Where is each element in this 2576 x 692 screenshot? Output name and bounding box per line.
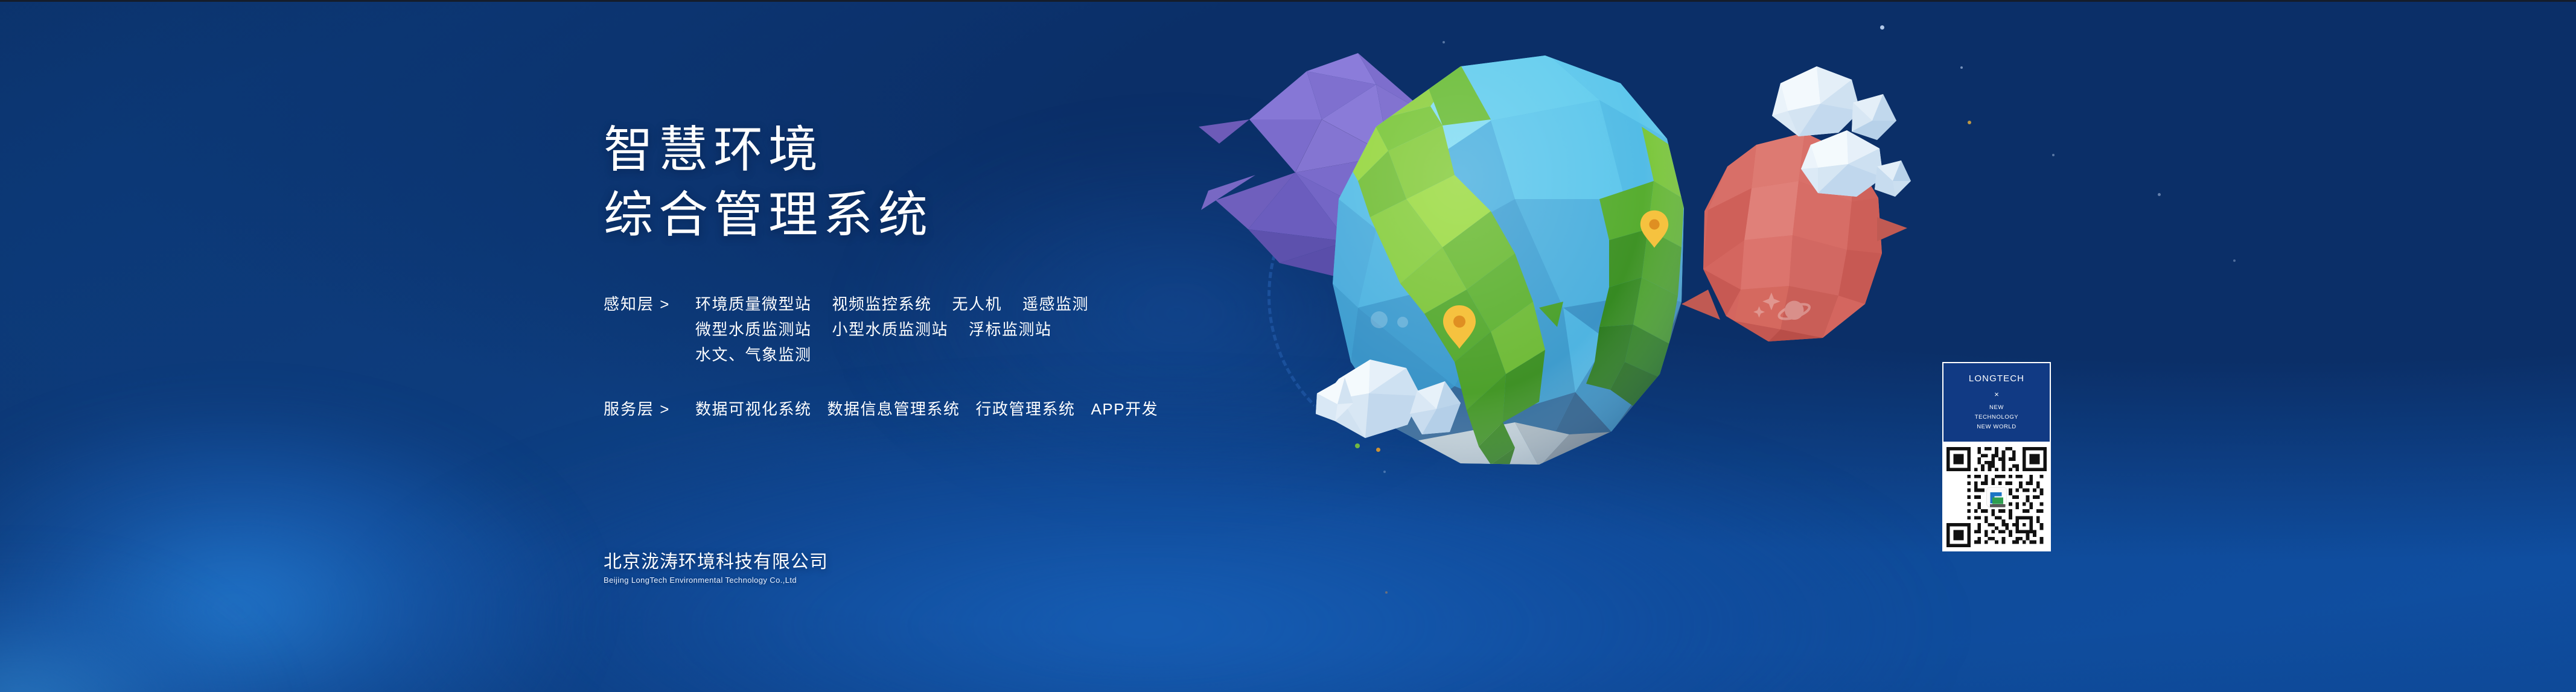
star-icon (1443, 41, 1445, 43)
layer-item[interactable]: APP开发 (1091, 396, 1159, 422)
layer-item[interactable]: 微型水质监测站 (695, 317, 812, 342)
title-line-1: 智慧环境 (604, 118, 1569, 183)
company-name-en: Beijing LongTech Environmental Technolog… (604, 575, 828, 586)
layer-item[interactable]: 小型水质监测站 (832, 317, 949, 342)
page-title: 智慧环境 综合管理系统 (604, 118, 1569, 248)
company-signature: 北京泷涛环境科技有限公司 Beijing LongTech Environmen… (604, 551, 828, 586)
layer-item[interactable]: 数据可视化系统 (695, 396, 812, 422)
layer-item[interactable]: 数据信息管理系统 (827, 396, 960, 422)
star-icon (2052, 154, 2055, 156)
layer-line: 数据可视化系统 数据信息管理系统 行政管理系统 APP开发 (695, 396, 1174, 422)
qr-card-header: LONGTECH × NEW TECHNOLOGY NEW WORLD (1942, 362, 2051, 443)
layer-items-service: 数据可视化系统 数据信息管理系统 行政管理系统 APP开发 (695, 396, 1174, 422)
company-name-cn: 北京泷涛环境科技有限公司 (604, 551, 828, 574)
layer-item[interactable]: 视频监控系统 (832, 291, 932, 317)
star-icon (2233, 259, 2236, 262)
layer-item[interactable]: 浮标监测站 (969, 317, 1052, 342)
layer-line: 水文、气象监测 (695, 342, 1089, 367)
layer-item[interactable]: 水文、气象监测 (695, 342, 812, 367)
top-edge-line (0, 0, 2576, 2)
wechat-qr-code-icon[interactable] (1946, 447, 2047, 547)
qr-code-frame (1942, 443, 2051, 551)
star-icon (1880, 25, 1884, 30)
layer-label-perception[interactable]: 感知层 > (604, 291, 695, 317)
layer-list: 感知层 > 环境质量微型站 视频监控系统 无人机 遥感监测 微型水质监测站 小型… (604, 291, 1569, 422)
hero-copy: 智慧环境 综合管理系统 感知层 > 环境质量微型站 视频监控系统 无人机 遥感监… (604, 118, 1569, 451)
layer-label-service[interactable]: 服务层 > (604, 396, 695, 422)
star-icon (2158, 193, 2161, 196)
hero-banner: 智慧环境 综合管理系统 感知层 > 环境质量微型站 视频监控系统 无人机 遥感监… (0, 0, 2576, 692)
layer-row-service: 服务层 > 数据可视化系统 数据信息管理系统 行政管理系统 APP开发 (604, 396, 1569, 422)
title-line-2: 综合管理系统 (604, 183, 1569, 248)
star-icon (1968, 121, 1971, 124)
layer-item[interactable]: 环境质量微型站 (695, 291, 812, 317)
layer-line: 环境质量微型站 视频监控系统 无人机 遥感监测 (695, 291, 1089, 317)
brand-name: LONGTECH (1948, 373, 2045, 385)
low-poly-cloud (1772, 66, 1896, 140)
qr-card[interactable]: LONGTECH × NEW TECHNOLOGY NEW WORLD (1942, 362, 2051, 551)
layer-line: 微型水质监测站 小型水质监测站 浮标监测站 (695, 317, 1089, 342)
layer-item[interactable]: 遥感监测 (1022, 291, 1089, 317)
layer-row-perception: 感知层 > 环境质量微型站 视频监控系统 无人机 遥感监测 微型水质监测站 小型… (604, 291, 1569, 367)
tagline-line-2: TECHNOLOGY (1948, 413, 2045, 421)
tagline-line-1: NEW (1948, 404, 2045, 411)
tagline-line-3: NEW WORLD (1948, 423, 2045, 431)
layer-item[interactable]: 无人机 (952, 291, 1003, 317)
layer-items-perception: 环境质量微型站 视频监控系统 无人机 遥感监测 微型水质监测站 小型水质监测站 … (695, 291, 1089, 367)
layer-item[interactable]: 行政管理系统 (976, 396, 1076, 422)
cross-icon: × (1948, 387, 2045, 402)
